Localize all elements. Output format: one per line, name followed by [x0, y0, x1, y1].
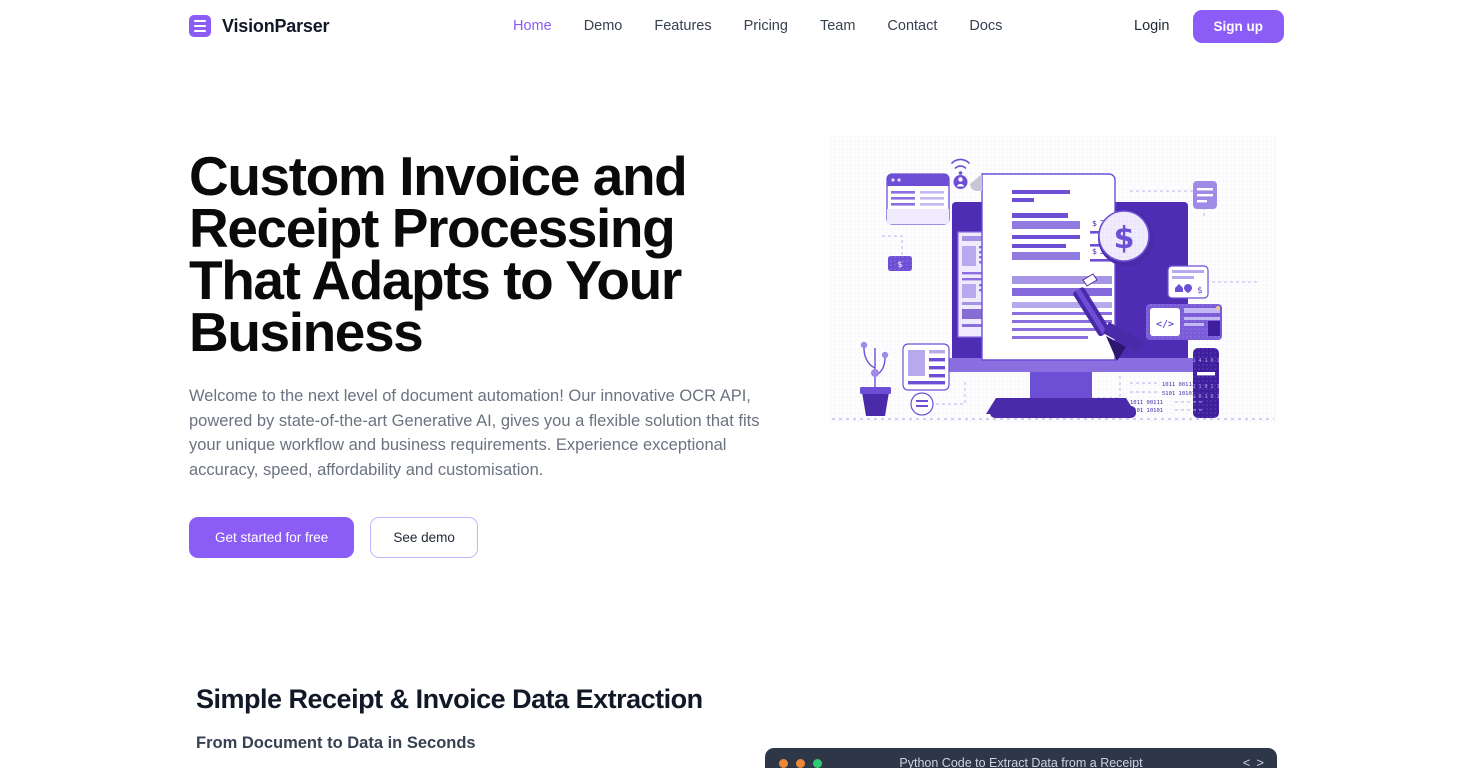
svg-text:1 1 0 1 1: 1 1 0 1 1 [1192, 384, 1219, 390]
code-window-title: Python Code to Extract Data from a Recei… [765, 756, 1277, 768]
hero-subtitle: Welcome to the next level of document au… [189, 384, 779, 482]
hero-cta-group: Get started for free See demo [189, 517, 789, 558]
hero-section: Custom Invoice and Receipt Processing Th… [189, 150, 789, 558]
nav-link-contact[interactable]: Contact [887, 18, 937, 34]
top-navbar: VisionParser Home Demo Features Pricing … [0, 0, 1473, 52]
nav-link-pricing[interactable]: Pricing [744, 18, 788, 34]
svg-text:1011 00111: 1011 00111 [1162, 382, 1195, 388]
svg-text:</>: </> [1156, 319, 1174, 330]
minimize-dot-icon[interactable] [796, 759, 805, 768]
brand-logo-link[interactable]: VisionParser [189, 15, 329, 37]
nav-link-team[interactable]: Team [820, 18, 855, 34]
get-started-button[interactable]: Get started for free [189, 517, 354, 558]
section-title: Simple Receipt & Invoice Data Extraction [196, 684, 703, 715]
signup-button[interactable]: Sign up [1193, 10, 1285, 43]
landing-page: VisionParser Home Demo Features Pricing … [0, 0, 1473, 768]
section-subtitle: From Document to Data in Seconds [196, 734, 703, 753]
see-demo-button[interactable]: See demo [370, 517, 478, 558]
brand-name: VisionParser [222, 16, 329, 37]
nav-link-docs[interactable]: Docs [969, 18, 1002, 34]
nav-links: Home Demo Features Pricing Team Contact … [513, 18, 1002, 34]
nav-link-home[interactable]: Home [513, 18, 552, 34]
nav-actions: Login Sign up [1134, 10, 1284, 43]
close-dot-icon[interactable] [779, 759, 788, 768]
document-ocr-illustration: $ $ 2.10 $ 3.00 [830, 136, 1276, 423]
svg-text:$: $ [1197, 286, 1203, 296]
code-preview-window: Python Code to Extract Data from a Recei… [765, 748, 1277, 768]
svg-text:$: $ [1114, 221, 1135, 256]
code-window-titlebar: Python Code to Extract Data from a Recei… [765, 748, 1277, 768]
maximize-dot-icon[interactable] [813, 759, 822, 768]
hero-title: Custom Invoice and Receipt Processing Th… [189, 150, 689, 358]
login-link[interactable]: Login [1134, 18, 1169, 34]
data-extraction-section: Simple Receipt & Invoice Data Extraction… [196, 684, 703, 753]
nav-link-features[interactable]: Features [654, 18, 711, 34]
window-traffic-lights [779, 759, 822, 768]
svg-text:1 4 1 0 1: 1 4 1 0 1 [1192, 358, 1219, 364]
svg-text:1 0 1 0 1: 1 0 1 0 1 [1192, 394, 1219, 400]
nav-link-demo[interactable]: Demo [584, 18, 623, 34]
svg-text:1011 00111: 1011 00111 [1130, 400, 1163, 406]
document-lines-icon [189, 15, 211, 37]
svg-text:$: $ [897, 260, 902, 269]
code-brackets-icon[interactable]: < > [1243, 756, 1263, 768]
svg-text:1101 10101: 1101 10101 [1130, 408, 1163, 414]
svg-text:5101 10101: 5101 10101 [1162, 391, 1195, 397]
